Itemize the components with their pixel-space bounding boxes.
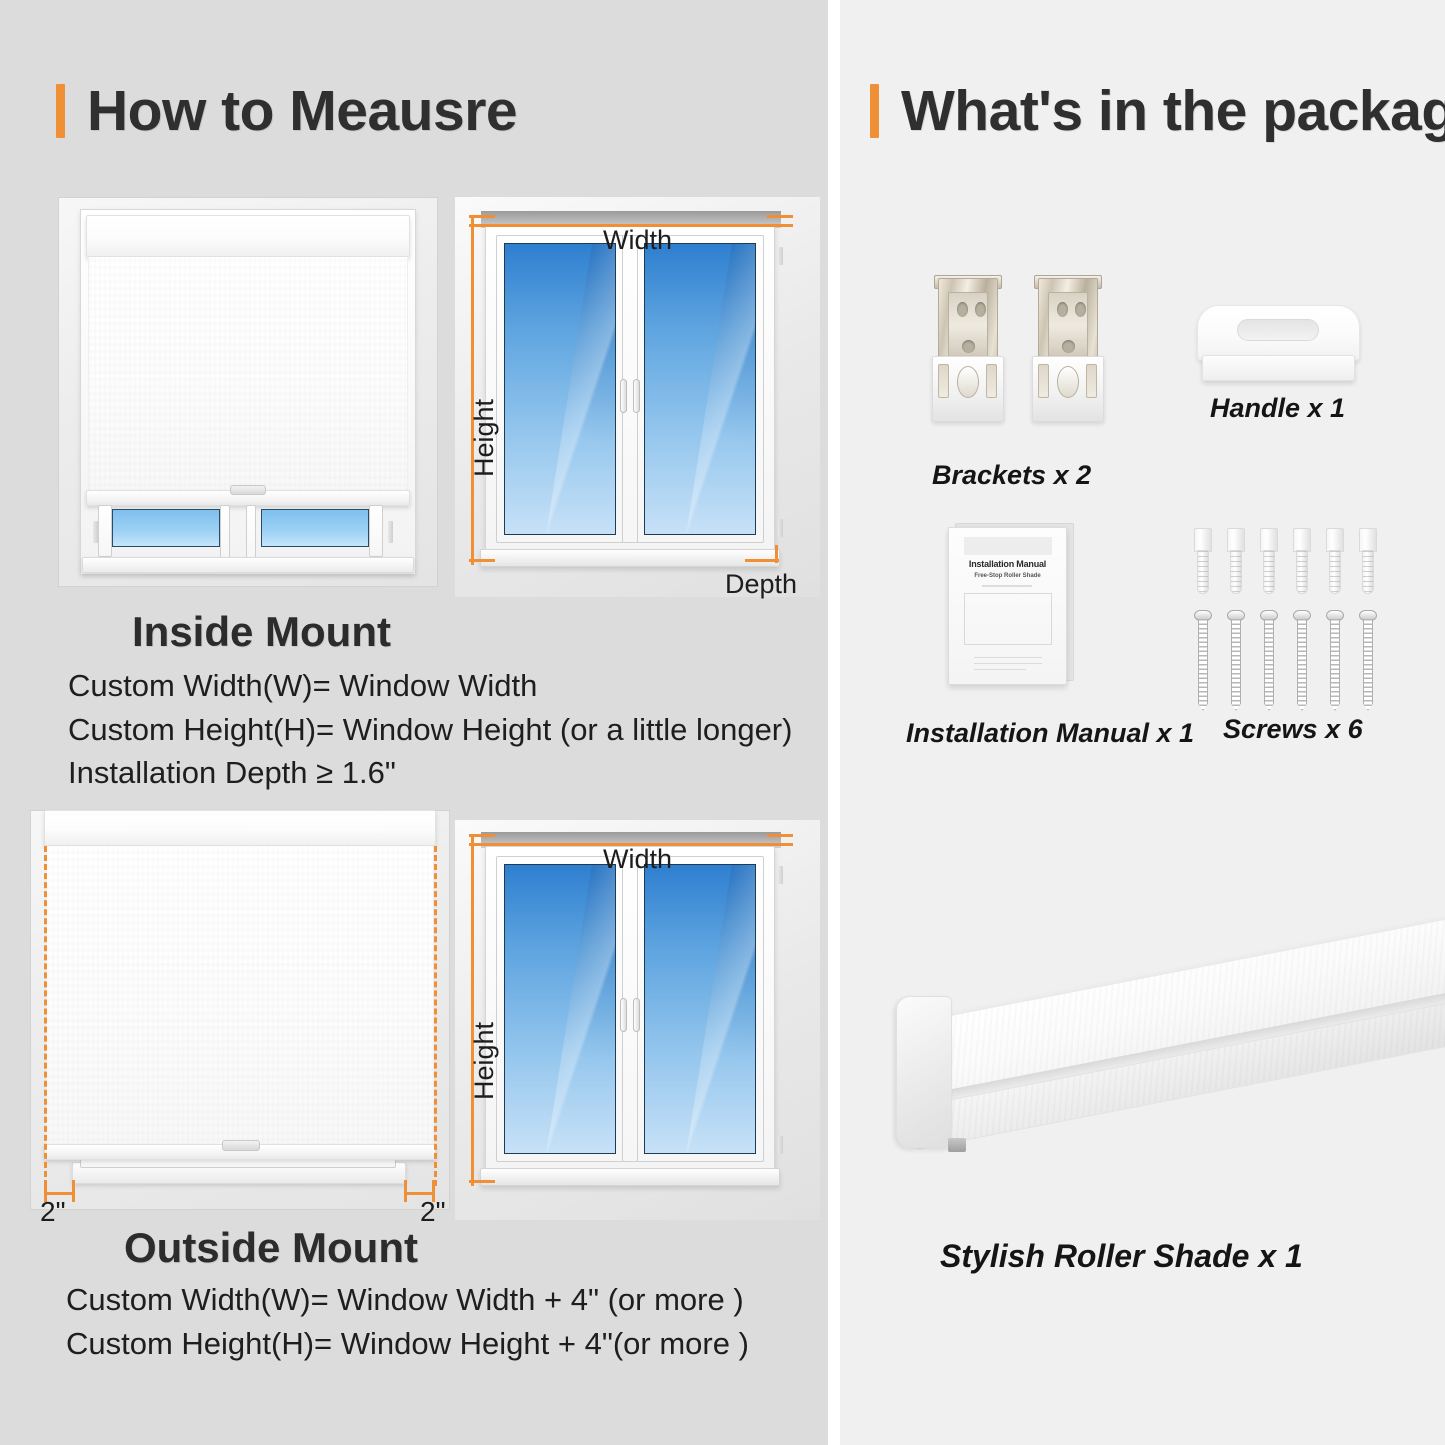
inside-mount-specs: Custom Width(W)= Window Width Custom Hei… [68, 668, 792, 799]
height-dim-end-cap [469, 559, 495, 562]
screw-icon [1194, 610, 1212, 718]
manual-cover-title: Installation Manual [956, 559, 1059, 569]
shade-fabric [88, 257, 408, 493]
screws-label: Screws x 6 [1223, 714, 1363, 745]
package-contents-panel: What's in the package [840, 0, 1445, 1445]
pull-tab [230, 485, 266, 495]
right-heading-text: What's in the package [901, 78, 1445, 144]
left-panel-heading: How to Meausre [56, 78, 517, 144]
depth-dim-line [775, 545, 778, 563]
accent-bar-icon [56, 84, 65, 138]
bracket-icon [930, 278, 1006, 428]
screw-icon [1293, 610, 1311, 718]
glass-left [504, 864, 616, 1154]
spec-line: Custom Height(H)= Window Height + 4"(or … [66, 1326, 749, 1363]
inside-mount-shade-illustration [58, 197, 438, 587]
glass-right [644, 243, 756, 535]
shade-fabric [46, 846, 434, 1148]
accent-bar-icon [870, 84, 879, 138]
outside-mount-measure-diagram: Width Height [455, 820, 820, 1220]
width-label: Width [603, 844, 672, 875]
depth-dim-cap [745, 559, 779, 562]
left-heading-text: How to Meausre [87, 78, 517, 144]
overhang-guide-right [434, 846, 437, 1186]
right-panel-heading: What's in the package [870, 78, 1445, 144]
height-label: Height [469, 1022, 500, 1100]
manual-cover-subtitle: Free-Stop Roller Shade [956, 573, 1059, 579]
overhang-guide-left [44, 846, 47, 1186]
width-dim-end-cap [767, 215, 793, 218]
outside-mount-title: Outside Mount [124, 1224, 418, 1272]
wall-anchor-icon [1292, 528, 1312, 596]
manual-icon: Installation Manual Free-Stop Roller Sha… [948, 523, 1074, 685]
bracket-icon [1030, 278, 1106, 428]
overhang-right-label: 2" [420, 1196, 446, 1228]
wall-anchor-icon [1259, 528, 1279, 596]
inside-mount-title: Inside Mount [132, 608, 391, 656]
screw-icon [1227, 610, 1245, 718]
brackets-label: Brackets x 2 [932, 460, 1091, 491]
panel-divider [828, 0, 840, 1445]
overhang-left-label: 2" [40, 1196, 66, 1228]
handle-icon [1197, 305, 1360, 383]
wall-anchor-icon [1325, 528, 1345, 596]
width-label: Width [603, 225, 672, 256]
glass-right [644, 864, 756, 1154]
screw-icon [1359, 610, 1377, 718]
outside-mount-specs: Custom Width(W)= Window Width + 4" (or m… [66, 1282, 749, 1369]
spec-line: Custom Width(W)= Window Width + 4" (or m… [66, 1282, 749, 1319]
spec-line: Custom Width(W)= Window Width [68, 668, 792, 705]
overhang-dim-right [404, 1192, 434, 1195]
headrail [44, 810, 436, 846]
roller-shade-label: Stylish Roller Shade x 1 [940, 1238, 1303, 1275]
wall-anchor-icon [1226, 528, 1246, 596]
height-label: Height [469, 399, 500, 477]
how-to-measure-panel: How to Meausre [0, 0, 828, 1445]
depth-label: Depth [725, 569, 797, 600]
manual-label: Installation Manual x 1 [906, 718, 1194, 749]
handle-label: Handle x 1 [1210, 393, 1345, 424]
outside-mount-shade-illustration [30, 810, 450, 1210]
screw-icon [1260, 610, 1278, 718]
spec-line: Custom Height(H)= Window Height (or a li… [68, 712, 792, 749]
height-dim-line [471, 215, 474, 565]
infographic-page: How to Meausre [0, 0, 1445, 1445]
wall-anchor-icon [1193, 528, 1213, 596]
inside-mount-measure-diagram: Width Height Depth [455, 197, 820, 597]
glass-left [504, 243, 616, 535]
overhang-dim-left [44, 1192, 74, 1195]
spec-line: Installation Depth ≥ 1.6" [68, 755, 792, 792]
wall-anchor-icon [1358, 528, 1378, 596]
roller-shade-icon [860, 880, 1440, 1210]
screw-icon [1326, 610, 1344, 718]
pull-tab [222, 1140, 260, 1151]
headrail [86, 215, 410, 257]
